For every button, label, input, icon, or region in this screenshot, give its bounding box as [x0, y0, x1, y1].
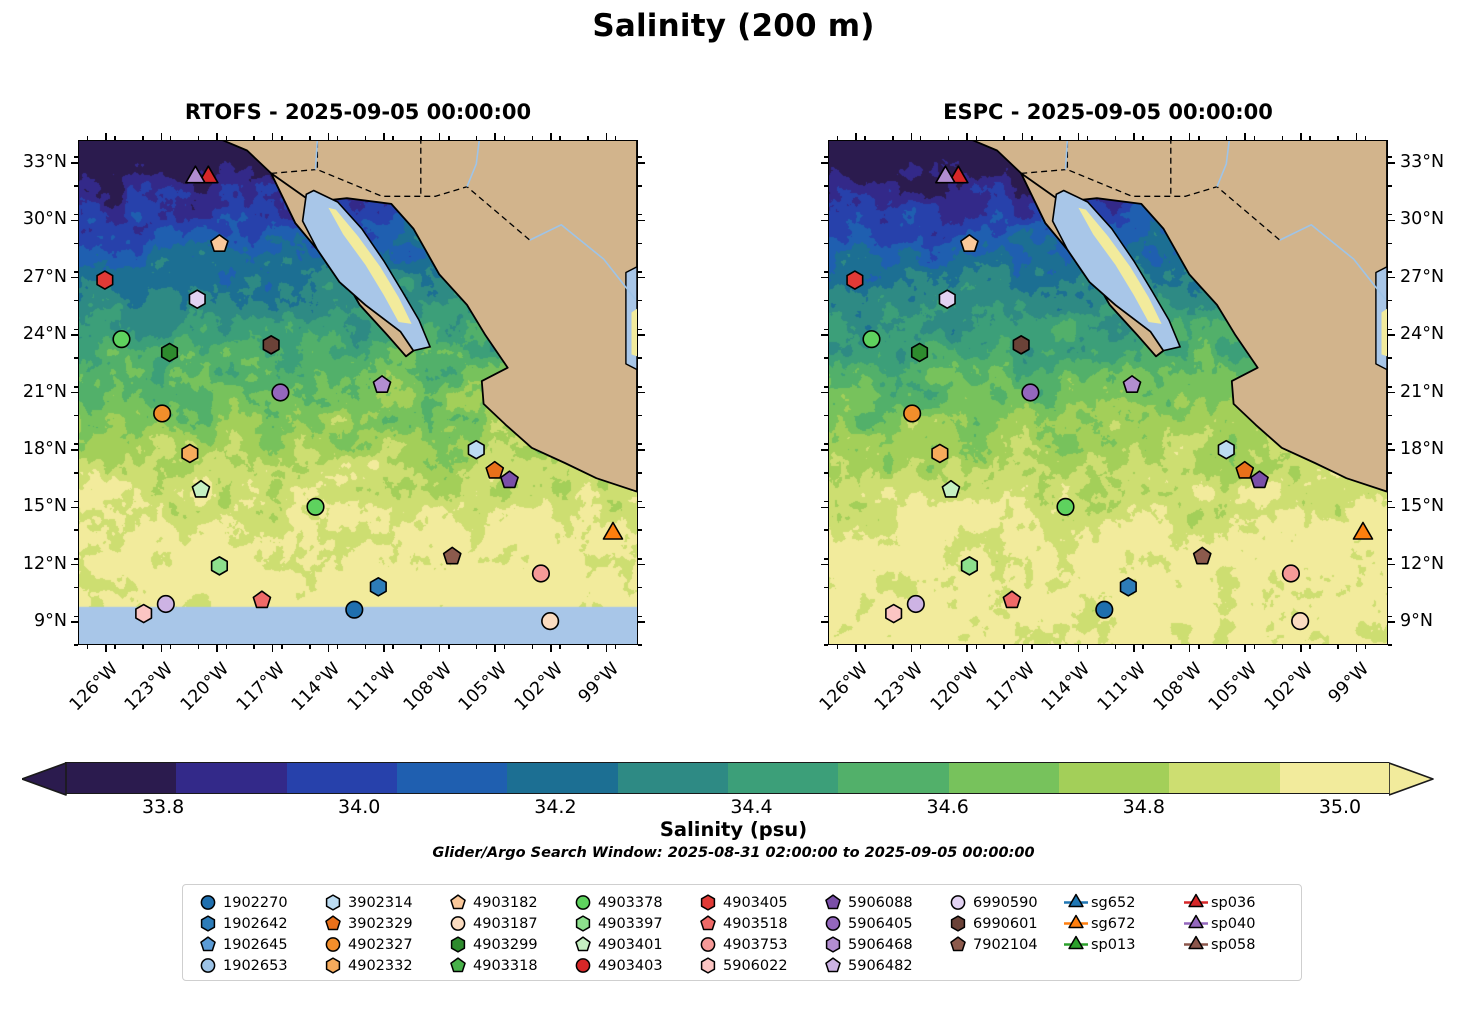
- y-tick: [71, 220, 78, 222]
- x-minor-tick: [1282, 136, 1284, 140]
- legend-marker-pentagon-icon: [195, 934, 221, 955]
- y-minor-tick: [74, 185, 78, 187]
- legend-column: sp036sp040sp058: [1183, 892, 1255, 955]
- x-minor-tick: [1003, 136, 1005, 140]
- legend-marker-pentagon-icon: [945, 934, 971, 955]
- legend-entry-label: 5906088: [846, 895, 913, 911]
- platform-marker[interactable]: [542, 613, 559, 630]
- y-minor-tick: [1388, 587, 1392, 589]
- y-tick: [71, 621, 78, 623]
- y-tick: [71, 507, 78, 509]
- platform-marker[interactable]: [1057, 499, 1074, 516]
- legend-entry[interactable]: 4903182: [445, 892, 538, 913]
- x-tick: [1022, 133, 1024, 140]
- legend-column: 5906088590640559064685906482: [820, 892, 913, 976]
- platform-marker[interactable]: [97, 271, 113, 289]
- y-minor-tick: [1388, 386, 1392, 388]
- y-tick: [71, 449, 78, 451]
- x-minor-tick: [1115, 136, 1117, 140]
- y-tick: [821, 564, 828, 566]
- legend-entry-label: 5906482: [846, 958, 913, 974]
- platform-marker[interactable]: [1096, 601, 1113, 618]
- y-tick: [71, 277, 78, 279]
- legend-entry[interactable]: 4903518: [695, 913, 788, 934]
- legend-entry[interactable]: sg672: [1063, 913, 1135, 934]
- legend-entry[interactable]: 5906022: [695, 955, 788, 976]
- legend-marker-pentagon-icon: [820, 892, 846, 913]
- figure-suptitle: Salinity (200 m): [0, 8, 1467, 44]
- x-minor-tick: [615, 136, 617, 140]
- y-tick: [638, 621, 645, 623]
- x-minor-tick: [504, 136, 506, 140]
- legend-entry-label: sp040: [1209, 916, 1255, 932]
- legend-entry[interactable]: 4903401: [570, 934, 663, 955]
- map-espc[interactable]: [828, 140, 1388, 645]
- y-tick-label: 30°N: [1400, 209, 1467, 229]
- y-minor-tick: [1388, 271, 1392, 273]
- x-tick: [966, 133, 968, 140]
- platform-marker[interactable]: [904, 405, 921, 422]
- x-minor-tick: [1142, 645, 1144, 649]
- x-tick: [105, 133, 107, 140]
- platform-marker[interactable]: [272, 384, 289, 401]
- legend-marker-pentagon-icon: [695, 913, 721, 934]
- platform-legend: 1902270190264219026451902653390231439023…: [182, 884, 1302, 981]
- legend-entry-label: sg652: [1089, 895, 1135, 911]
- platform-marker[interactable]: [263, 336, 279, 354]
- legend-entry[interactable]: 5906088: [820, 892, 913, 913]
- x-minor-tick: [892, 645, 894, 649]
- x-minor-tick: [142, 645, 144, 649]
- map-overlay: [829, 141, 1387, 644]
- x-tick: [383, 645, 385, 652]
- platform-marker[interactable]: [1194, 547, 1211, 563]
- platform-marker[interactable]: [942, 481, 959, 497]
- x-minor-tick: [559, 645, 561, 649]
- x-minor-tick: [226, 645, 228, 649]
- platform-marker[interactable]: [373, 376, 390, 392]
- y-tick: [1388, 507, 1395, 509]
- y-tick-label: 18°N: [1400, 439, 1467, 459]
- legend-entry[interactable]: 7902104: [945, 934, 1038, 955]
- x-minor-tick: [532, 136, 534, 140]
- legend-entry[interactable]: 4903187: [445, 913, 538, 934]
- x-minor-tick: [281, 136, 283, 140]
- y-minor-tick: [638, 472, 642, 474]
- legend-entry[interactable]: 5906468: [820, 934, 913, 955]
- legend-entry-label: 4903403: [596, 958, 663, 974]
- x-minor-tick: [976, 645, 978, 649]
- x-minor-tick: [114, 136, 116, 140]
- x-minor-tick: [837, 136, 839, 140]
- y-minor-tick: [74, 644, 78, 646]
- platform-marker[interactable]: [182, 444, 198, 462]
- x-minor-tick: [1059, 136, 1061, 140]
- y-minor-tick: [638, 300, 642, 302]
- y-minor-tick: [824, 329, 828, 331]
- platform-marker[interactable]: [533, 565, 550, 582]
- legend-entry[interactable]: 1902645: [195, 934, 288, 955]
- legend-column: 4903405490351849037535906022: [695, 892, 788, 976]
- gulf-of-mexico-core: [1382, 309, 1388, 357]
- y-minor-tick: [638, 501, 642, 503]
- y-minor-tick: [824, 156, 828, 158]
- platform-marker[interactable]: [192, 481, 209, 497]
- platform-marker[interactable]: [1283, 565, 1300, 582]
- colorbar-tick-label: 35.0: [1319, 796, 1361, 818]
- x-minor-tick: [532, 645, 534, 649]
- y-tick-label: 18°N: [0, 439, 67, 459]
- platform-marker[interactable]: [468, 441, 484, 459]
- y-tick: [821, 334, 828, 336]
- platform-marker[interactable]: [936, 166, 955, 183]
- platform-marker[interactable]: [154, 405, 171, 422]
- legend-entry-label: 1902642: [221, 916, 288, 932]
- x-minor-tick: [1031, 645, 1033, 649]
- legend-entry[interactable]: 4903403: [570, 955, 663, 976]
- legend-marker-pentagon-icon: [320, 913, 346, 934]
- y-minor-tick: [638, 214, 642, 216]
- legend-entry[interactable]: 1902642: [195, 913, 288, 934]
- y-tick-label: 24°N: [1400, 324, 1467, 344]
- x-tick: [272, 133, 274, 140]
- legend-entry[interactable]: 4902332: [320, 955, 413, 976]
- y-minor-tick: [824, 243, 828, 245]
- y-tick-label: 21°N: [0, 382, 67, 402]
- x-minor-tick: [1254, 645, 1256, 649]
- platform-marker[interactable]: [211, 235, 228, 251]
- x-minor-tick: [1282, 645, 1284, 649]
- platform-marker[interactable]: [186, 166, 205, 183]
- y-minor-tick: [1388, 329, 1392, 331]
- x-minor-tick: [198, 645, 200, 649]
- legend-entry-label: 1902653: [221, 958, 288, 974]
- y-tick-label: 33°N: [0, 152, 67, 172]
- x-tick: [494, 645, 496, 652]
- platform-marker[interactable]: [371, 578, 387, 596]
- x-minor-tick: [365, 645, 367, 649]
- x-minor-tick: [476, 136, 478, 140]
- y-tick: [1388, 334, 1395, 336]
- y-minor-tick: [824, 214, 828, 216]
- x-minor-tick: [365, 136, 367, 140]
- y-minor-tick: [1388, 300, 1392, 302]
- legend-marker-pentagon-icon: [570, 934, 596, 955]
- y-minor-tick: [638, 357, 642, 359]
- y-minor-tick: [638, 443, 642, 445]
- legend-entry[interactable]: 4903753: [695, 934, 788, 955]
- platform-marker[interactable]: [847, 271, 863, 289]
- x-minor-tick: [559, 136, 561, 140]
- x-minor-tick: [198, 136, 200, 140]
- y-minor-tick: [824, 616, 828, 618]
- x-tick: [1189, 133, 1191, 140]
- land-north-america: [79, 141, 637, 492]
- legend-entry[interactable]: 4903378: [570, 892, 663, 913]
- legend-entry-label: 1902270: [221, 895, 288, 911]
- y-minor-tick: [638, 558, 642, 560]
- y-minor-tick: [74, 616, 78, 618]
- legend-column: 1902270190264219026451902653: [195, 892, 288, 976]
- platform-marker[interactable]: [1121, 578, 1137, 596]
- legend-entry[interactable]: 6990590: [945, 892, 1038, 913]
- x-tick: [439, 645, 441, 652]
- y-minor-tick: [638, 185, 642, 187]
- x-tick: [1244, 645, 1246, 652]
- platform-marker[interactable]: [886, 605, 902, 623]
- y-minor-tick: [824, 529, 828, 531]
- y-minor-tick: [824, 558, 828, 560]
- y-minor-tick: [74, 357, 78, 359]
- y-minor-tick: [1388, 501, 1392, 503]
- y-tick: [821, 449, 828, 451]
- y-minor-tick: [74, 386, 78, 388]
- x-minor-tick: [615, 645, 617, 649]
- platform-marker[interactable]: [961, 235, 978, 251]
- x-tick: [1300, 133, 1302, 140]
- platform-marker[interactable]: [113, 331, 130, 348]
- legend-column: sg652sg672sp013: [1063, 892, 1135, 955]
- legend-entry[interactable]: 1902653: [195, 955, 288, 976]
- platform-marker[interactable]: [932, 444, 948, 462]
- colorbar-tick-label: 34.6: [927, 796, 969, 818]
- x-minor-tick: [281, 645, 283, 649]
- x-tick: [855, 645, 857, 652]
- legend-marker-triangle-line-icon: [1183, 892, 1209, 913]
- x-minor-tick: [1254, 136, 1256, 140]
- x-minor-tick: [142, 136, 144, 140]
- x-minor-tick: [87, 645, 89, 649]
- y-minor-tick: [638, 587, 642, 589]
- y-tick-label: 9°N: [0, 611, 67, 631]
- legend-column: 699059069906017902104: [945, 892, 1038, 955]
- x-minor-tick: [1365, 136, 1367, 140]
- legend-entry-label: 4903518: [721, 916, 788, 932]
- colorbar-tick-label: 34.0: [338, 796, 380, 818]
- x-minor-tick: [448, 645, 450, 649]
- platform-marker[interactable]: [1292, 613, 1309, 630]
- x-minor-tick: [170, 136, 172, 140]
- legend-entry[interactable]: sp040: [1183, 913, 1255, 934]
- legend-entry[interactable]: 4903397: [570, 913, 663, 934]
- y-tick: [1388, 564, 1395, 566]
- x-tick: [439, 133, 441, 140]
- platform-marker[interactable]: [444, 547, 461, 563]
- x-minor-tick: [837, 645, 839, 649]
- x-tick: [911, 133, 913, 140]
- x-tick: [1300, 645, 1302, 652]
- y-tick: [821, 507, 828, 509]
- x-tick: [1022, 645, 1024, 652]
- x-minor-tick: [1170, 136, 1172, 140]
- legend-marker-hexagon-icon: [820, 934, 846, 955]
- legend-marker-circle-icon: [945, 892, 971, 913]
- platform-marker[interactable]: [863, 331, 880, 348]
- y-minor-tick: [1388, 185, 1392, 187]
- platform-marker[interactable]: [1236, 462, 1253, 478]
- platform-marker[interactable]: [1003, 591, 1020, 607]
- panel-rtofs-title: RTOFS - 2025-09-05 00:00:00: [78, 100, 638, 124]
- legend-marker-hexagon-icon: [320, 955, 346, 976]
- platform-marker[interactable]: [136, 605, 152, 623]
- y-minor-tick: [1388, 616, 1392, 618]
- legend-entry[interactable]: 4903405: [695, 892, 788, 913]
- platform-marker[interactable]: [346, 601, 363, 618]
- legend-entry[interactable]: 5906482: [820, 955, 913, 976]
- platform-marker[interactable]: [501, 471, 518, 487]
- x-tick: [1189, 645, 1191, 652]
- platform-marker[interactable]: [189, 290, 205, 308]
- x-minor-tick: [587, 136, 589, 140]
- x-tick: [966, 645, 968, 652]
- platform-marker[interactable]: [962, 557, 978, 575]
- legend-entry[interactable]: 6990601: [945, 913, 1038, 934]
- y-tick: [821, 277, 828, 279]
- y-minor-tick: [1388, 156, 1392, 158]
- legend-entry[interactable]: 4903318: [445, 955, 538, 976]
- gulf-of-mexico-core: [632, 309, 638, 357]
- legend-marker-hexagon-icon: [195, 913, 221, 934]
- legend-entry[interactable]: 5906405: [820, 913, 913, 934]
- x-minor-tick: [1226, 136, 1228, 140]
- platform-marker[interactable]: [158, 596, 175, 613]
- y-tick: [638, 507, 645, 509]
- x-minor-tick: [1142, 136, 1144, 140]
- x-minor-tick: [1003, 645, 1005, 649]
- y-minor-tick: [74, 156, 78, 158]
- platform-marker[interactable]: [908, 596, 925, 613]
- legend-entry-label: 4903378: [596, 895, 663, 911]
- legend-entry-label: sp013: [1089, 937, 1135, 953]
- x-minor-tick: [1087, 645, 1089, 649]
- y-minor-tick: [638, 644, 642, 646]
- x-tick: [494, 133, 496, 140]
- y-minor-tick: [638, 156, 642, 158]
- x-tick: [1356, 133, 1358, 140]
- x-minor-tick: [392, 136, 394, 140]
- legend-marker-triangle-line-icon: [1063, 934, 1089, 955]
- x-minor-tick: [864, 645, 866, 649]
- x-minor-tick: [504, 645, 506, 649]
- platform-marker[interactable]: [1251, 471, 1268, 487]
- legend-entry-label: 4903318: [471, 958, 538, 974]
- platform-marker[interactable]: [486, 462, 503, 478]
- legend-entry-label: 4903397: [596, 916, 663, 932]
- legend-marker-hexagon-icon: [695, 892, 721, 913]
- legend-entry[interactable]: sp013: [1063, 934, 1135, 955]
- legend-marker-circle-icon: [445, 913, 471, 934]
- legend-entry-label: 1902645: [221, 937, 288, 953]
- x-minor-tick: [1198, 136, 1200, 140]
- x-minor-tick: [892, 136, 894, 140]
- y-minor-tick: [638, 415, 642, 417]
- legend-entry[interactable]: 4903299: [445, 934, 538, 955]
- legend-column: 3902314390232949023274902332: [320, 892, 413, 976]
- x-tick: [216, 133, 218, 140]
- x-tick: [855, 133, 857, 140]
- x-minor-tick: [920, 645, 922, 649]
- y-tick: [71, 162, 78, 164]
- legend-entry-label: 4903405: [721, 895, 788, 911]
- colorbar-extend-max: [1389, 762, 1433, 794]
- y-minor-tick: [638, 329, 642, 331]
- platform-marker[interactable]: [162, 343, 178, 361]
- x-minor-tick: [170, 645, 172, 649]
- map-rtofs[interactable]: [78, 140, 638, 645]
- legend-entry-label: sp036: [1209, 895, 1255, 911]
- y-tick: [821, 220, 828, 222]
- platform-marker[interactable]: [1013, 336, 1029, 354]
- legend-entry[interactable]: 1902270: [195, 892, 288, 913]
- platform-marker[interactable]: [253, 591, 270, 607]
- y-minor-tick: [74, 243, 78, 245]
- y-tick-label: 9°N: [1400, 611, 1467, 631]
- map-overlay: [79, 141, 637, 644]
- x-minor-tick: [1337, 136, 1339, 140]
- x-minor-tick: [87, 136, 89, 140]
- platform-marker[interactable]: [307, 499, 324, 516]
- platform-marker[interactable]: [1123, 376, 1140, 392]
- legend-entry-label: 4903187: [471, 916, 538, 932]
- y-minor-tick: [74, 529, 78, 531]
- y-minor-tick: [74, 558, 78, 560]
- platform-marker[interactable]: [939, 290, 955, 308]
- legend-marker-pentagon-icon: [820, 955, 846, 976]
- platform-marker[interactable]: [912, 343, 928, 361]
- legend-marker-triangle-line-icon: [1063, 892, 1089, 913]
- x-minor-tick: [587, 645, 589, 649]
- y-minor-tick: [74, 300, 78, 302]
- legend-marker-circle-icon: [570, 955, 596, 976]
- y-minor-tick: [74, 443, 78, 445]
- legend-entry-label: 5906022: [721, 958, 788, 974]
- x-minor-tick: [226, 136, 228, 140]
- panel-espc-title: ESPC - 2025-09-05 00:00:00: [828, 100, 1388, 124]
- legend-entry[interactable]: sp036: [1183, 892, 1255, 913]
- y-minor-tick: [638, 271, 642, 273]
- legend-marker-circle-icon: [695, 934, 721, 955]
- x-minor-tick: [1309, 645, 1311, 649]
- platform-marker[interactable]: [1218, 441, 1234, 459]
- legend-entry-label: 3902329: [346, 916, 413, 932]
- legend-entry-label: 6990601: [971, 916, 1038, 932]
- platform-marker[interactable]: [212, 557, 228, 575]
- colorbar-label: Salinity (psu): [0, 818, 1467, 841]
- y-tick: [638, 392, 645, 394]
- x-tick: [1356, 645, 1358, 652]
- y-minor-tick: [638, 243, 642, 245]
- legend-entry[interactable]: sg652: [1063, 892, 1135, 913]
- y-minor-tick: [1388, 472, 1392, 474]
- legend-entry[interactable]: 4902327: [320, 934, 413, 955]
- legend-marker-hexagon-icon: [445, 934, 471, 955]
- legend-entry[interactable]: sp058: [1183, 934, 1255, 955]
- platform-marker[interactable]: [1353, 522, 1372, 539]
- legend-marker-pentagon-icon: [445, 892, 471, 913]
- y-minor-tick: [74, 415, 78, 417]
- legend-marker-hexagon-icon: [945, 913, 971, 934]
- legend-entry[interactable]: 3902329: [320, 913, 413, 934]
- y-tick: [638, 220, 645, 222]
- platform-marker[interactable]: [1022, 384, 1039, 401]
- legend-column: 4903182490318749032994903318: [445, 892, 538, 976]
- x-minor-tick: [253, 136, 255, 140]
- x-tick: [272, 645, 274, 652]
- colorbar-tick-label: 34.8: [1123, 796, 1165, 818]
- y-tick: [1388, 277, 1395, 279]
- legend-entry[interactable]: 3902314: [320, 892, 413, 913]
- platform-marker[interactable]: [603, 522, 622, 539]
